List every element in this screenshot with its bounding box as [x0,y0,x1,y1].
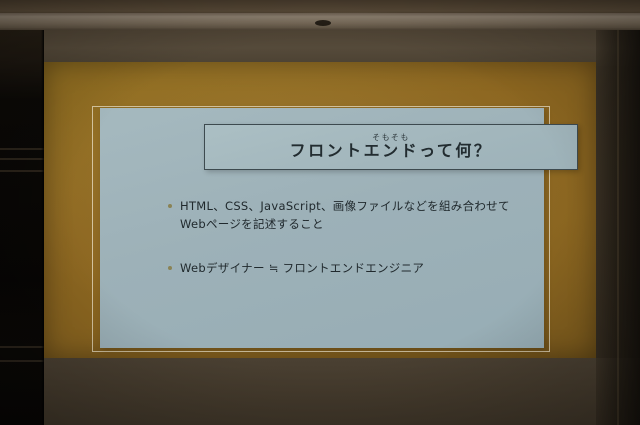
ceiling-fixture-icon [315,20,331,26]
projected-slide: そもそも フロントエンドって何？ HTML、CSS、JavaScript、画像フ… [44,62,596,358]
column-seam-line [0,170,44,172]
column-seam-line [0,346,44,348]
slide-title-box: そもそも フロントエンドって何？ [204,124,578,170]
upper-wall [0,30,640,66]
dark-doorway-column [0,30,44,425]
bullet-list: HTML、CSS、JavaScript、画像ファイルなどを組み合わせて Webペ… [168,198,588,303]
lower-wall [44,358,640,425]
column-seam-line [0,148,44,150]
bullet-line: Webページを記述すること [180,216,510,234]
right-wall-seam [617,30,619,425]
column-seam-line [0,360,44,362]
bullet-dot-icon [168,266,172,270]
bullet-line: Webデザイナー ≒ フロントエンドエンジニア [180,260,424,278]
slide-content-panel: そもそも フロントエンドって何？ HTML、CSS、JavaScript、画像フ… [100,108,544,348]
list-item: Webデザイナー ≒ フロントエンドエンジニア [168,260,588,278]
column-seam-line [0,158,44,160]
bullet-dot-icon [168,204,172,208]
list-item: HTML、CSS、JavaScript、画像ファイルなどを組み合わせて Webペ… [168,198,588,234]
photo-scene: そもそも フロントエンドって何？ HTML、CSS、JavaScript、画像フ… [0,0,640,425]
bullet-text: HTML、CSS、JavaScript、画像ファイルなどを組み合わせて Webペ… [180,198,510,234]
bullet-text: Webデザイナー ≒ フロントエンドエンジニア [180,260,424,278]
bullet-line: HTML、CSS、JavaScript、画像ファイルなどを組み合わせて [180,198,510,216]
page-title: フロントエンドって何？ [290,143,493,160]
